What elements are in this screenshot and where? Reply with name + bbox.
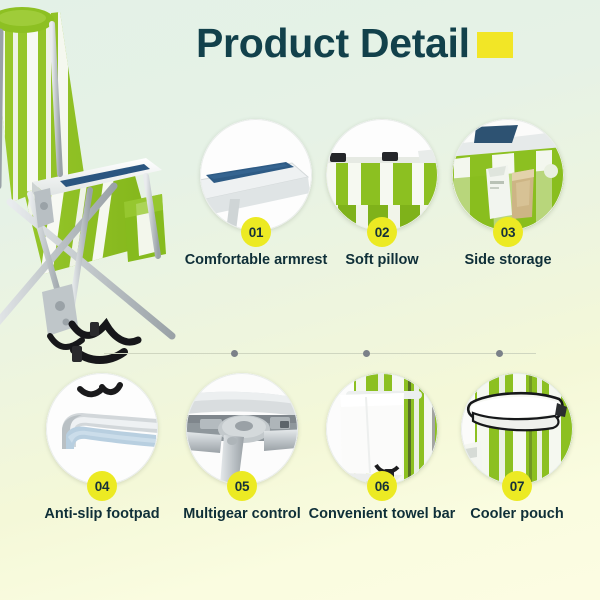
footpad-photo bbox=[46, 373, 158, 485]
feature-item-01[interactable]: 01 Comfortable armrest bbox=[196, 119, 316, 231]
feature-caption-03: Side storage bbox=[430, 251, 586, 270]
feature-badge-05: 05 bbox=[227, 471, 257, 501]
feature-item-03[interactable]: 03 Side storage bbox=[448, 119, 568, 231]
feature-badge-04: 04 bbox=[87, 471, 117, 501]
page-title-text: Product Detail bbox=[196, 23, 470, 64]
divider-dot bbox=[363, 350, 370, 357]
feature-badge-03: 03 bbox=[493, 217, 523, 247]
feature-item-06[interactable]: 06 Convenient towel bar bbox=[322, 373, 442, 485]
feature-caption-05: Multigear control bbox=[164, 505, 320, 524]
feature-caption-04: Anti-slip footpad bbox=[24, 505, 180, 524]
towel-bar-photo bbox=[326, 373, 438, 485]
feature-badge-01: 01 bbox=[241, 217, 271, 247]
feature-badge-02: 02 bbox=[367, 217, 397, 247]
multigear-photo bbox=[186, 373, 298, 485]
page-title: Product Detail bbox=[196, 16, 513, 70]
side-storage-photo bbox=[452, 119, 564, 231]
cooler-pouch-photo bbox=[461, 373, 573, 485]
divider-dot bbox=[496, 350, 503, 357]
feature-item-02[interactable]: 02 Soft pillow bbox=[322, 119, 442, 231]
divider-dot bbox=[231, 350, 238, 357]
feature-item-04[interactable]: 04 Anti-slip footpad bbox=[42, 373, 162, 485]
armrest-photo bbox=[200, 119, 312, 231]
product-detail-infographic: Product Detail bbox=[0, 0, 600, 600]
section-divider bbox=[104, 353, 536, 354]
beach-chair-product-photo bbox=[0, 6, 202, 366]
feature-caption-07: Cooler pouch bbox=[439, 505, 595, 524]
feature-item-07[interactable]: 07 Cooler pouch bbox=[457, 373, 577, 485]
feature-item-05[interactable]: 05 Multigear control bbox=[182, 373, 302, 485]
feature-badge-06: 06 bbox=[367, 471, 397, 501]
feature-badge-07: 07 bbox=[502, 471, 532, 501]
feature-caption-06: Convenient towel bar bbox=[304, 505, 460, 524]
title-accent-block bbox=[477, 32, 513, 58]
pillow-photo bbox=[326, 119, 438, 231]
